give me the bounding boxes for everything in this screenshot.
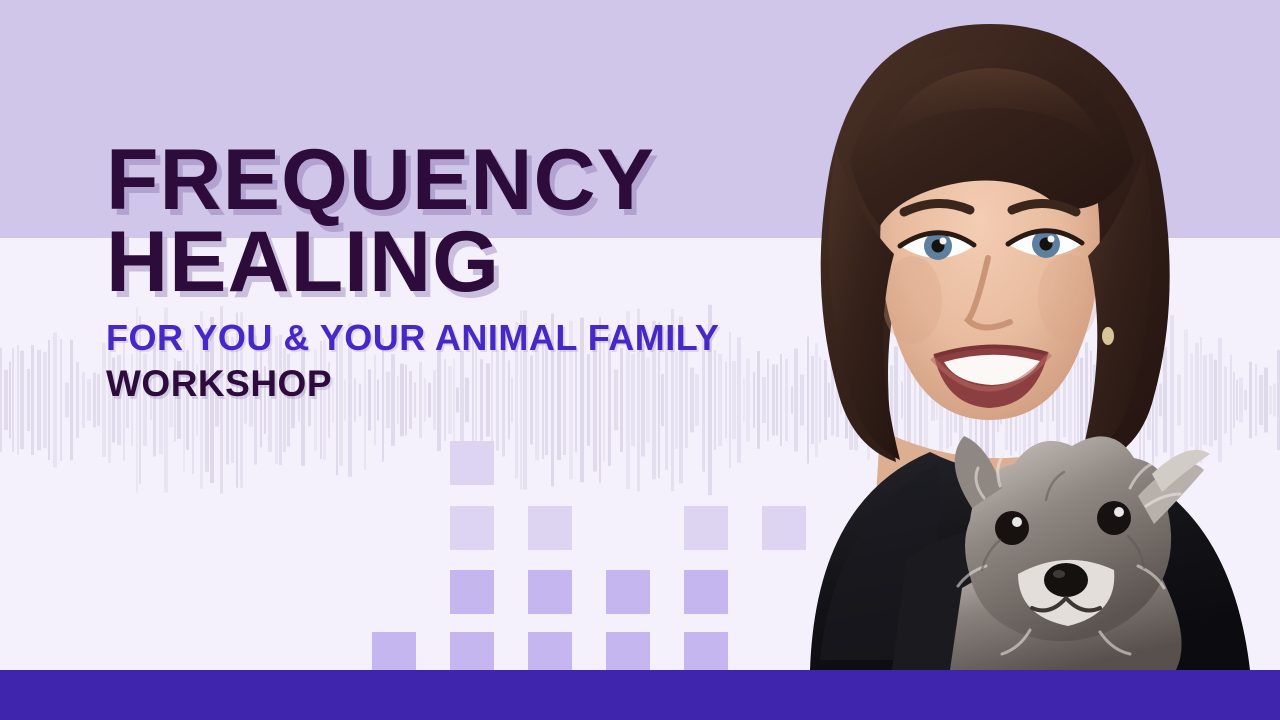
footer-accent-bar (0, 670, 1280, 720)
grid-square (450, 570, 494, 614)
grid-square (450, 506, 494, 550)
grid-square (450, 441, 494, 485)
grid-square (606, 570, 650, 614)
grid-square (528, 570, 572, 614)
grid-square (528, 506, 572, 550)
presenter-portrait (700, 0, 1280, 670)
poster-canvas: FREQUENCY HEALING FOR YOU & YOUR ANIMAL … (0, 0, 1280, 720)
